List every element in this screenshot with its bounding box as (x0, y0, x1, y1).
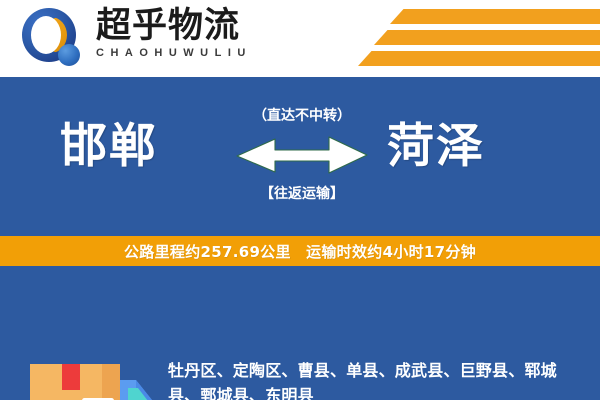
delivery-truck-icon (24, 358, 160, 400)
route-arrow-group: （直达不中转） 【往返运输】 (232, 105, 372, 207)
bidirectional-arrow-icon (235, 131, 369, 177)
direct-shipping-label: （直达不中转） (232, 105, 372, 125)
logistics-route-banner: 超乎物流 CHAOHUWULIU 邯郸 （直达不中转） 【往返运输】 菏泽 (0, 0, 600, 400)
logo-crescent-cut-shape (31, 16, 61, 54)
route-section: 邯郸 （直达不中转） 【往返运输】 菏泽 (0, 77, 600, 236)
distance-duration-bar: 公路里程约257.69公里 运输时效约4小时17分钟 (0, 236, 600, 266)
brand-block: 超乎物流 CHAOHUWULIU (96, 7, 252, 59)
coverage-section: 牡丹区、定陶区、曹县、单县、成武县、巨野县、郓城县、鄄城县、东明县 (0, 266, 600, 400)
brand-name-en: CHAOHUWULIU (96, 47, 252, 59)
stripe-1 (390, 9, 600, 24)
brand-name-cn: 超乎物流 (96, 7, 252, 45)
logo-dot-shape (58, 44, 80, 66)
destination-city: 菏泽 (387, 119, 485, 175)
chaohu-logistics-logo-icon (22, 8, 84, 70)
main-blue-panel: 邯郸 （直达不中转） 【往返运输】 菏泽 公路里程约257.69公里 运输时效约… (0, 77, 600, 400)
distance-duration-text: 公路里程约257.69公里 运输时效约4小时17分钟 (124, 241, 476, 262)
stripe-3 (358, 51, 600, 66)
orange-speed-stripes-icon (335, 9, 600, 69)
origin-city: 邯郸 (60, 119, 158, 175)
round-trip-label: 【往返运输】 (232, 183, 372, 203)
coverage-districts-text: 牡丹区、定陶区、曹县、单县、成武县、巨野县、郓城县、鄄城县、东明县 (168, 358, 580, 400)
banner-header: 超乎物流 CHAOHUWULIU (0, 0, 600, 77)
stripe-2 (374, 30, 600, 45)
